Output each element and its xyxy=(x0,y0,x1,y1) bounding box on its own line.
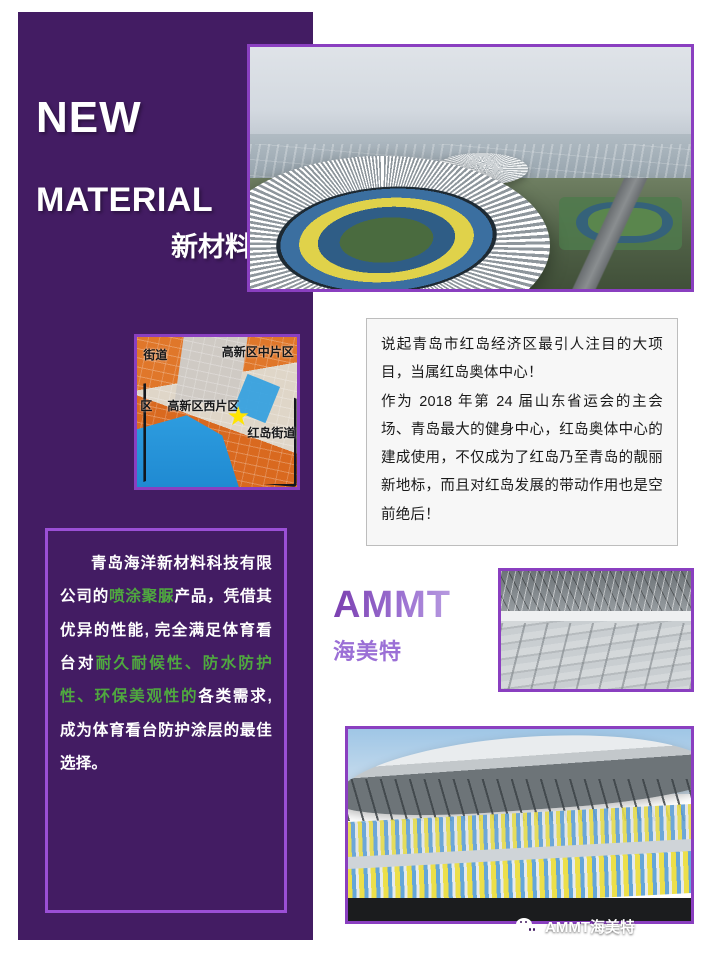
article-paragraph-2: 作为 2018 年第 24 届山东省运会的主会场、青岛最大的健身中心，红岛奥体中… xyxy=(381,388,663,529)
map-star-marker: ★ xyxy=(227,403,253,429)
map-label-0: 街道 xyxy=(143,346,167,363)
promo-paragraph: 青岛海洋新材料科技有限公司的喷涂聚脲产品，凭借其优异的性能, 完全满足体育看台对… xyxy=(60,547,272,780)
headline-block: NEW MATERIAL 新材料 xyxy=(18,95,268,263)
seats-aisle-lines xyxy=(501,623,691,689)
article-textbox: 说起青岛市红岛经济区最引人注目的大项目，当属红岛奥体中心！ 作为 2018 年第… xyxy=(366,318,678,546)
aerial-road xyxy=(550,178,665,289)
seats-roof-structure xyxy=(501,571,691,616)
wechat-icon xyxy=(516,918,538,936)
article-paragraph-1: 说起青岛市红岛经济区最引人注目的大项目，当属红岛奥体中心！ xyxy=(381,331,663,388)
promo-highlight-1: 喷涂聚脲 xyxy=(109,588,174,605)
photo-stadium-interior xyxy=(345,726,694,924)
map-label-2: 区 xyxy=(140,397,152,414)
brand-name: AMMT xyxy=(333,586,451,624)
map-label-1: 高新区中片区 xyxy=(222,343,294,360)
headline-material: MATERIAL xyxy=(18,183,268,219)
photo-stadium-aerial xyxy=(247,44,694,292)
footer-account-tag: AMMT海美特 xyxy=(516,916,635,937)
promo-textbox: 青岛海洋新材料科技有限公司的喷涂聚脲产品，凭借其优异的性能, 完全满足体育看台对… xyxy=(45,528,287,913)
map-label-4: 红岛街道 xyxy=(247,424,295,441)
brand-name-cn: 海美特 xyxy=(333,634,493,666)
poster-canvas: NEW MATERIAL 新材料 街道 高新区中片区 区 高新区西片区 红岛街道… xyxy=(0,0,704,960)
headline-chinese: 新材料 xyxy=(18,233,268,263)
brand-lockup: AMMT 海美特 xyxy=(333,586,493,666)
footer-account-name: AMMT海美特 xyxy=(545,916,635,937)
photo-location-map: 街道 高新区中片区 区 高新区西片区 红岛街道 ★ xyxy=(134,334,300,490)
headline-new: NEW xyxy=(18,95,268,141)
photo-grandstand-steps xyxy=(498,568,694,692)
